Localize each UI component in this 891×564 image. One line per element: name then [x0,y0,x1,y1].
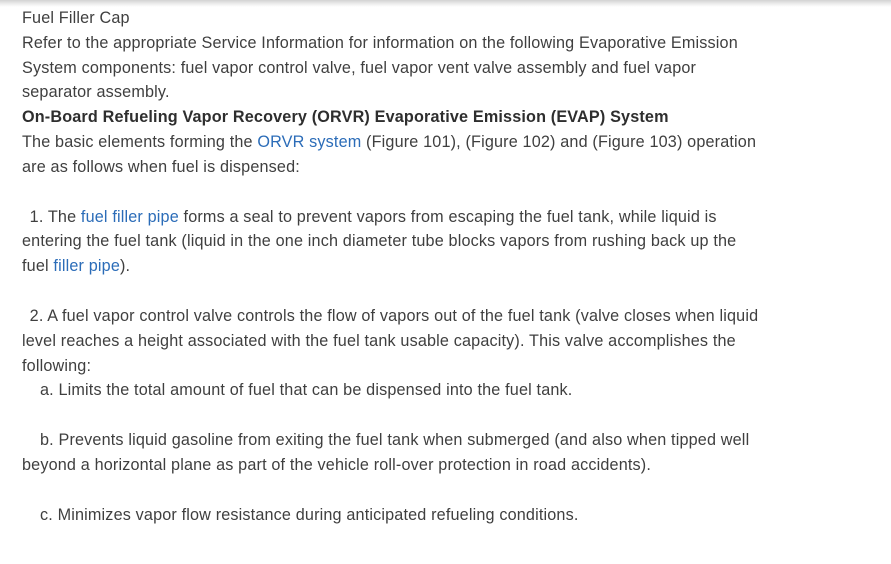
page-title: Fuel Filler Cap [0,6,891,31]
lead-text-before-link: The basic elements forming the [22,133,257,151]
list-item-2a: a. Limits the total amount of fuel that … [0,378,891,403]
lead-paragraph-line-1: The basic elements forming the ORVR syst… [0,130,891,155]
item-1-line3-text-after-link: ). [120,257,130,275]
lead-paragraph-line-2: are as follows when fuel is dispensed: [0,155,891,180]
document-content: Fuel Filler Cap Refer to the appropriate… [0,0,891,528]
list-item-1-line-2: entering the fuel tank (liquid in the on… [0,229,891,254]
list-item-2-line-3: following: [0,354,891,379]
intro-paragraph-line-3: separator assembly. [0,80,891,105]
section-heading-orvr-evap: On-Board Refueling Vapor Recovery (ORVR)… [0,105,891,130]
list-item-2-line-2: level reaches a height associated with t… [0,329,891,354]
list-item-2-line-1: 2. A fuel vapor control valve controls t… [0,304,891,329]
paragraph-gap-before-item-2 [0,279,891,304]
item-1-text-after-link: forms a seal to prevent vapors from esca… [179,208,717,226]
list-item-2c: c. Minimizes vapor flow resistance durin… [0,503,891,528]
paragraph-gap-before-item-1 [0,180,891,205]
list-item-1-line-3: fuel filler pipe). [0,254,891,279]
filler-pipe-link[interactable]: filler pipe [53,257,120,275]
list-item-2b-line-2: beyond a horizontal plane as part of the… [0,453,891,478]
intro-paragraph-line-2: System components: fuel vapor control va… [0,56,891,81]
intro-paragraph-line-1: Refer to the appropriate Service Informa… [0,31,891,56]
item-1-line3-text-before-link: fuel [22,257,53,275]
lead-text-after-link: (Figure 101), (Figure 102) and (Figure 1… [361,133,756,151]
paragraph-gap-before-item-2b [0,403,891,428]
orvr-system-link[interactable]: ORVR system [257,133,361,151]
list-item-2b-line-1: b. Prevents liquid gasoline from exiting… [0,428,891,453]
fuel-filler-pipe-link[interactable]: fuel filler pipe [81,208,179,226]
paragraph-gap-before-item-2c [0,478,891,503]
list-item-1-line-1: 1. The fuel filler pipe forms a seal to … [0,205,891,230]
item-1-text-before-link: 1. The [25,208,81,226]
